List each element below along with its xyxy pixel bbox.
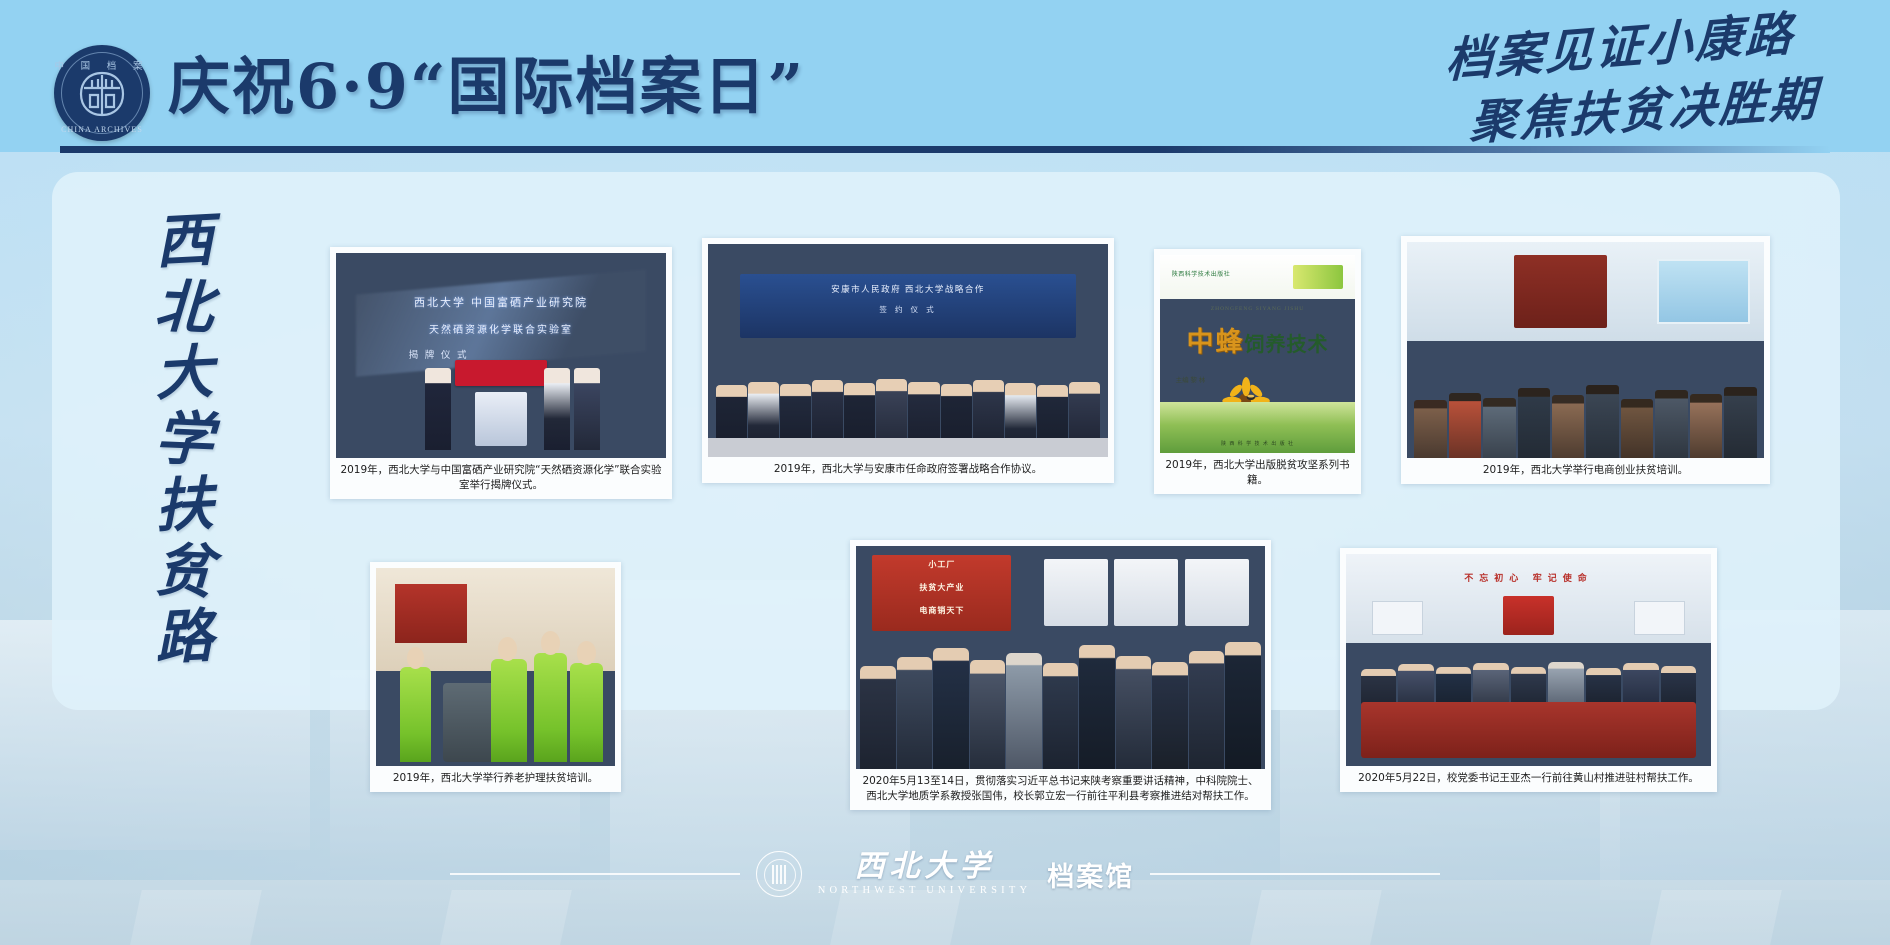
photo-strategic-agreement: 安康市人民政府 西北大学战略合作 签 约 仪 式 xyxy=(708,244,1108,457)
photo-card-signing[interactable]: 安康市人民政府 西北大学战略合作 签 约 仪 式 xyxy=(702,238,1114,483)
photo-book-cover: 陕西科学技术出版社 ZHONGFENG SIYANG JISHU 中蜂饲养技术 … xyxy=(1160,255,1355,453)
banner-line-1: 安康市人民政府 西北大学战略合作 xyxy=(740,283,1076,295)
nwu-logo-icon xyxy=(756,851,802,897)
department-name: 档案馆 xyxy=(1047,855,1134,894)
wheelchair xyxy=(443,683,496,762)
book-title-main: 中蜂 xyxy=(1187,327,1245,358)
photo-huangshan-meeting: 不忘初心 牢记使命 xyxy=(1346,554,1711,766)
banner-line-2: 签 约 仪 式 xyxy=(740,304,1076,315)
calligraphy-slogan: 档案见证小康路 聚焦扶贫决胜期 xyxy=(1432,8,1852,158)
factory-banner: 小工厂 扶贫大产业 电商销天下 xyxy=(872,555,1011,631)
volunteer-vest xyxy=(534,653,567,762)
photo-caption: 2019年，西北大学举行电商创业扶贫培训。 xyxy=(1407,458,1764,484)
photo-card-unveiling[interactable]: 西北大学 中国富硒产业研究院 天然硒资源化学联合实验室 揭 牌 仪 式 2019… xyxy=(330,247,672,499)
caption-line-2: 西北大学地质学系教授张国伟，校长郭立宏一行前往平利县考察推进结对帮扶工作。 xyxy=(866,790,1255,802)
vertical-title-char: 路 xyxy=(153,603,214,672)
book-press-name: 陕 西 科 学 技 术 出 版 社 xyxy=(1160,440,1355,447)
podium xyxy=(475,392,528,445)
room-slogan: 不忘初心 牢记使命 xyxy=(1346,571,1711,584)
poster-root: 中 国 档 案 CHINA ARCHIVES 庆祝6·9“国际档案日” 档案见证… xyxy=(0,0,1890,945)
vertical-title-char: 西 xyxy=(153,207,214,276)
photo-caption: 2019年，西北大学出版脱贫攻坚系列书籍。 xyxy=(1160,453,1355,494)
vertical-title-char: 北 xyxy=(154,273,215,341)
person-head xyxy=(407,647,424,669)
wall-scroll xyxy=(1514,255,1607,328)
visitor-crowd xyxy=(856,622,1265,769)
footer-rule-left xyxy=(450,873,740,875)
china-archives-logo-icon: 中 国 档 案 CHINA ARCHIVES xyxy=(54,45,150,141)
stage-floor xyxy=(708,438,1108,457)
photo-card-books[interactable]: 陕西科学技术出版社 ZHONGFENG SIYANG JISHU 中蜂饲养技术 … xyxy=(1154,249,1361,494)
logo-cn-text: 中 国 档 案 xyxy=(54,58,150,72)
person-head xyxy=(577,641,596,665)
volunteer-vest xyxy=(400,667,431,762)
photo-card-huangshan[interactable]: 不忘初心 牢记使命 2020年5月22日，校党委书记王亚杰一行前往 xyxy=(1340,548,1717,792)
banner-line-3: 电商销天下 xyxy=(872,605,1011,616)
vertical-title-char: 贫 xyxy=(154,537,215,605)
photo-unveiling-ceremony: 西北大学 中国富硒产业研究院 天然硒资源化学联合实验室 揭 牌 仪 式 xyxy=(336,253,666,458)
photo-pingli-inspection: 小工厂 扶贫大产业 电商销天下 xyxy=(856,546,1265,769)
page-title: 庆祝6·9“国际档案日” xyxy=(168,44,805,130)
volunteer-vest xyxy=(491,659,527,762)
computer-desks xyxy=(1407,333,1764,458)
caption-line-1: 2020年5月13至14日，贯彻落实习近平总书记来陕考察重要讲话精神，中科院院士… xyxy=(862,775,1258,787)
person-figure xyxy=(544,368,570,450)
footer-rule-right xyxy=(1150,873,1440,875)
book-series-badge xyxy=(1293,265,1344,289)
window xyxy=(1657,259,1750,324)
person-head xyxy=(541,631,560,655)
book-pinyin: ZHONGFENG SIYANG JISHU xyxy=(1160,306,1355,312)
vertical-title-char: 扶 xyxy=(153,471,214,540)
book-title: 中蜂饲养技术 xyxy=(1160,320,1355,359)
person-figure xyxy=(574,368,600,450)
person-figure xyxy=(425,368,451,450)
red-plaque xyxy=(455,360,547,387)
nwu-name-en: NORTHWEST UNIVERSITY xyxy=(818,886,1032,897)
vertical-title-char: 学 xyxy=(154,405,215,473)
photo-card-eldercare[interactable]: 2019年，西北大学举行养老护理扶贫培训。 xyxy=(370,562,621,792)
led-screen-line-1: 西北大学 中国富硒产业研究院 xyxy=(336,294,666,310)
stage-banner: 安康市人民政府 西北大学战略合作 签 约 仪 式 xyxy=(740,274,1076,338)
led-screen-line-2: 天然硒资源化学联合实验室 xyxy=(336,321,666,336)
photo-caption: 2019年，西北大学与中国富硒产业研究院“天然硒资源化学”联合实验室举行揭牌仪式… xyxy=(336,458,666,499)
nwu-name-cn: 西北大学 xyxy=(854,852,994,882)
photo-ecommerce-training xyxy=(1407,242,1764,458)
book-author: 主编 黎 林 xyxy=(1176,374,1206,384)
vertical-title: 西 北 大 学 扶 贫 路 xyxy=(138,208,230,668)
photo-caption: 2019年，西北大学与安康市任命政府签署战略合作协议。 xyxy=(708,457,1108,483)
nwu-wordmark: 西北大学 NORTHWEST UNIVERSITY xyxy=(818,852,1032,897)
person-head xyxy=(498,637,517,661)
logo-emblem-icon xyxy=(78,71,126,118)
party-emblem-panel xyxy=(1503,596,1554,634)
photo-caption: 2020年5月13至14日，贯彻落实习近平总书记来陕考察重要讲话精神，中科院院士… xyxy=(856,769,1265,810)
photo-card-ecommerce[interactable]: 2019年，西北大学举行电商创业扶贫培训。 xyxy=(1401,236,1770,484)
banner-line-1: 小工厂 xyxy=(872,559,1011,570)
logo-en-text: CHINA ARCHIVES xyxy=(54,125,150,134)
volunteer-vest xyxy=(570,663,603,762)
photo-caption: 2020年5月22日，校党委书记王亚杰一行前往黄山村推进驻村帮扶工作。 xyxy=(1346,766,1711,792)
meeting-table xyxy=(1361,702,1697,757)
red-banner xyxy=(395,584,467,643)
banner-line-2: 扶贫大产业 xyxy=(872,582,1011,593)
book-publisher-label: 陕西科学技术出版社 xyxy=(1172,269,1231,278)
meeting-attendees xyxy=(1346,630,1711,711)
photo-caption: 2019年，西北大学举行养老护理扶贫培训。 xyxy=(376,766,615,792)
book-title-sub: 饲养技术 xyxy=(1245,332,1329,356)
photo-eldercare-training xyxy=(376,568,615,766)
vertical-title-char: 大 xyxy=(153,339,214,408)
footer: 西北大学 NORTHWEST UNIVERSITY 档案馆 xyxy=(0,839,1890,909)
wall-posters xyxy=(1044,559,1249,626)
photo-card-pingli[interactable]: 小工厂 扶贫大产业 电商销天下 xyxy=(850,540,1271,810)
